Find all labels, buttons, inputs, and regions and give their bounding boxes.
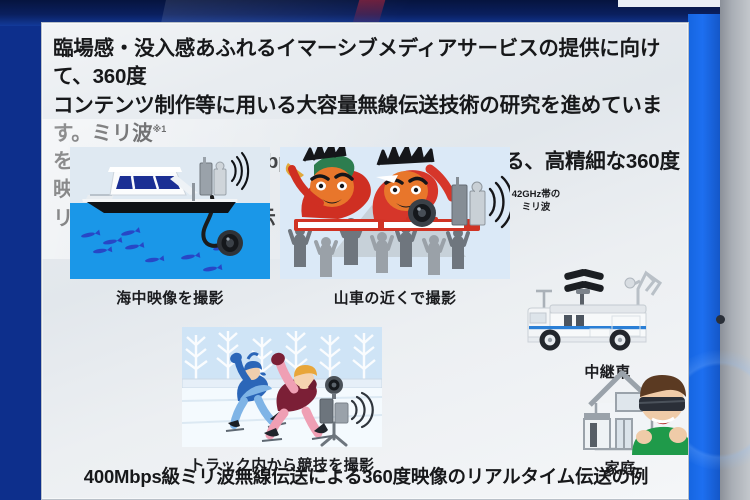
van-dish-feed bbox=[625, 278, 635, 288]
relay-van-illustration bbox=[520, 261, 689, 356]
mmwave-line-2: ミリ波 bbox=[494, 202, 578, 215]
figure-caption-boat: 海中映像を撮影 bbox=[70, 287, 270, 308]
home-vr-svg bbox=[582, 363, 689, 455]
van-mast-arm bbox=[632, 273, 660, 307]
vr-goggles-icon bbox=[639, 397, 685, 411]
speed-skating-illustration bbox=[182, 327, 382, 447]
footnote-marker: ※1 bbox=[152, 124, 166, 134]
home-vr-illustration bbox=[582, 363, 689, 455]
van-roof bbox=[550, 305, 646, 313]
van-roof-pole bbox=[536, 291, 552, 309]
relay-van-svg bbox=[520, 261, 689, 356]
boat-mast bbox=[192, 183, 195, 201]
lead-line-2: コンテンツ制作等に用いる大容量無線伝送技術の研究を進めています。ミリ波※1 bbox=[53, 92, 681, 149]
van-antenna-array bbox=[564, 268, 605, 309]
wall-screw bbox=[716, 315, 725, 324]
festival-float-illustration bbox=[280, 147, 510, 279]
poster-panel: 臨場感・没入感あふれるイマーシブメディアサービスの提供に向けて、360度 コンテ… bbox=[41, 22, 689, 500]
bottom-caption: 400Mbps級ミリ波無線伝送による360度映像のリアルタイム伝送の例 bbox=[42, 463, 689, 489]
boat-svg bbox=[70, 147, 270, 279]
figure-caption-festival-float: 山車の近くで撮影 bbox=[280, 287, 510, 308]
speed-skating-svg bbox=[182, 327, 382, 447]
lead-line-1: 臨場感・没入感あふれるイマーシブメディアサービスの提供に向けて、360度 bbox=[53, 35, 681, 92]
boat-illustration bbox=[70, 147, 270, 279]
lead-line-2-text: コンテンツ制作等に用いる大容量無線伝送技術の研究を進めています。ミリ波 bbox=[53, 94, 662, 145]
mmwave-line-1: 42GHz帯の bbox=[494, 189, 578, 202]
festival-float-svg bbox=[280, 147, 510, 279]
underwater-camera bbox=[217, 230, 243, 256]
mmwave-annotation: 42GHz帯の ミリ波 bbox=[494, 189, 578, 215]
